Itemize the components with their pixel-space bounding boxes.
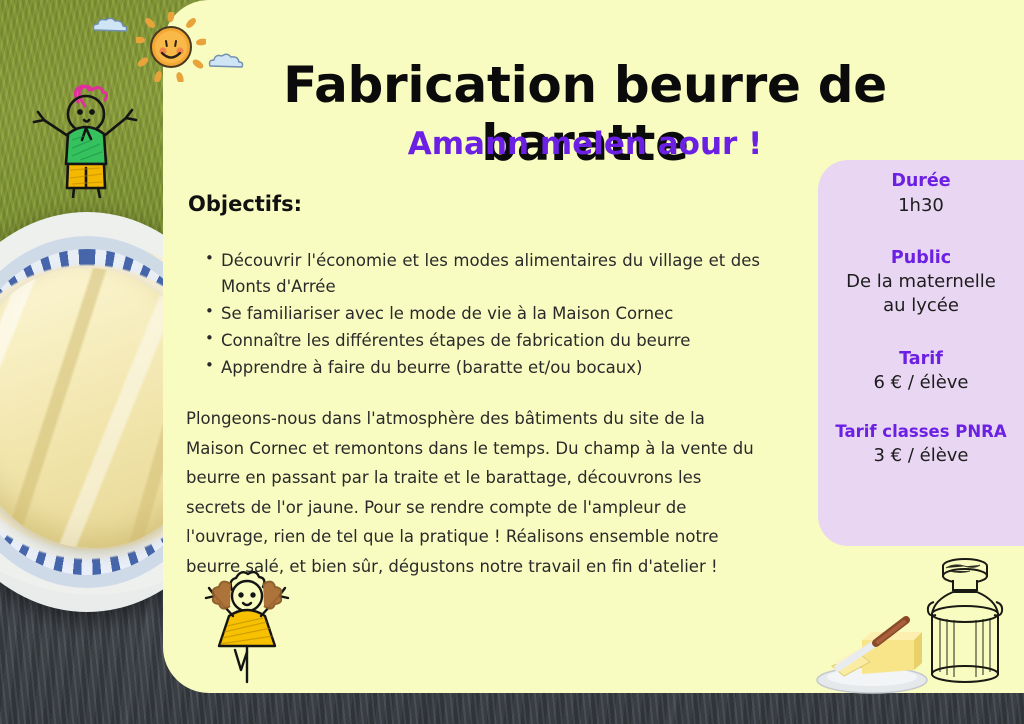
list-item: Se familiariser avec le mode de vie à la… [205,301,760,327]
public-value-line2: au lycée [818,294,1024,318]
objectives-list: Découvrir l'économie et les modes alimen… [205,248,760,382]
objectives-heading: Objectifs: [188,192,302,216]
page-subtitle: Amann melen aour ! [190,126,980,162]
price-pnra-value: 3 € / élève [818,444,1024,468]
spacer [818,319,1024,348]
milk-churn-illustration [920,552,1010,692]
list-item: Découvrir l'économie et les modes alimen… [205,248,760,300]
description-paragraph: Plongeons-nous dans l'atmosphère des bât… [186,404,758,581]
info-panel: Durée 1h30 Public De la maternelle au ly… [818,160,1024,546]
spacer [818,395,1024,421]
public-value-line1: De la maternelle [818,270,1024,294]
cloud-icon [90,16,130,34]
public-label: Public [818,247,1024,271]
list-item: Connaître les différentes étapes de fabr… [205,328,760,354]
price-value: 6 € / élève [818,371,1024,395]
list-item: Apprendre à faire du beurre (baratte et/… [205,355,760,381]
boy-child-doodle [22,78,148,198]
duration-label: Durée [818,170,1024,194]
price-label: Tarif [818,348,1024,372]
description-block: Plongeons-nous dans l'atmosphère des bât… [186,404,758,581]
spacer [818,218,1024,247]
duration-value: 1h30 [818,194,1024,218]
price-pnra-label: Tarif classes PNRA [818,421,1024,443]
